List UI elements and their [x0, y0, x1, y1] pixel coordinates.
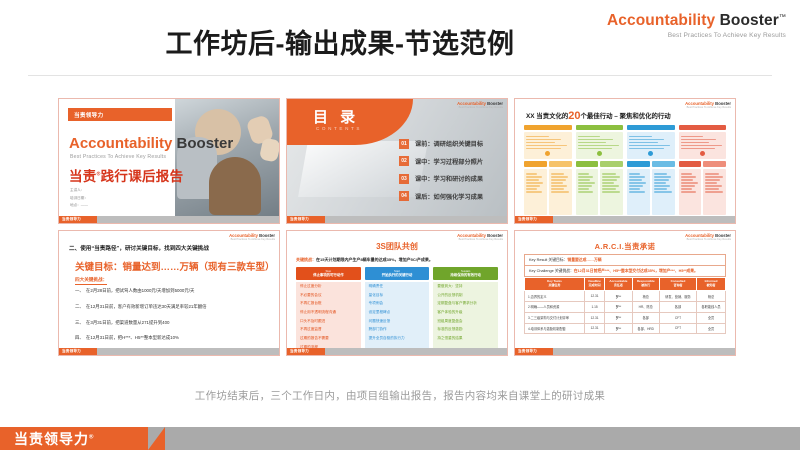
- arci-table-header-cell: Deadline完成时间: [584, 278, 604, 291]
- threes-list-item: 口头不及时跟进: [300, 320, 357, 324]
- arci-table-cell-consulted: 研发、营销、服务: [659, 291, 696, 302]
- actions-col-blue: [627, 125, 675, 215]
- actions-row-line: [681, 139, 716, 141]
- actions-column-body: [679, 132, 727, 159]
- thumbnail-cover[interactable]: 当责领导力 Accountability Booster Best Practi…: [58, 98, 280, 224]
- thumbnail-20-actions[interactable]: Accountability Booster Best Practices To…: [514, 98, 736, 224]
- key-goal-subheading: 四大关键挑战：: [75, 277, 107, 285]
- threes-list-item: 停止过度分析: [300, 285, 357, 289]
- arci-key-challenge: Key Challenge 关键挑战：在12月31日前把产***、H5**整本型…: [524, 265, 726, 277]
- actions-row-line: [629, 182, 646, 184]
- key-goal-item: 一、 在2月28日前，把试驾人数由1000元/天增加到5000元/天: [75, 288, 269, 293]
- actions-column-body: [576, 132, 624, 159]
- threes-column-header-cn: 停止事项的可行动作: [313, 273, 344, 277]
- threes-column-header-cn: 开始执行的关键行动: [382, 273, 413, 277]
- cover-badge: 当责领导力: [68, 108, 172, 121]
- arci-title: A.R.C.I.当责承诺: [515, 241, 735, 252]
- actions-subcolumn-header: [703, 161, 726, 167]
- arci-table-row: 4.培训体系与激励机制配套12.31罗**各部、HRDCFT全员: [525, 323, 726, 334]
- threes-column-header-en: Sustain: [461, 270, 470, 273]
- cover-meta-line: 培训日期：: [70, 195, 88, 203]
- arci-table-cell-responsible: 各部: [632, 312, 659, 323]
- threes-list-item: 不必要的会议: [300, 294, 357, 298]
- brand-tm: ™: [779, 14, 786, 21]
- key-goal-item-text: 在3月31日前，把渠道数量从271提升到400: [86, 320, 169, 325]
- actions-row-line: [629, 136, 652, 138]
- actions-row-line: [578, 148, 613, 150]
- thumb-footer-tab: 当责领导力: [287, 348, 325, 355]
- arci-table-header-row: Key Tasks关键任务Deadline完成时间Accountable责任者R…: [525, 278, 726, 291]
- threes-title: 3S团队共创: [287, 241, 507, 252]
- thumb-footer-tab: 当责领导力: [287, 216, 325, 223]
- threes-column-header-en: Start: [394, 270, 400, 273]
- threes-list-item: 不再过度监督: [300, 328, 357, 332]
- actions-row-line: [629, 191, 645, 193]
- thumb-brand: Accountability Booster Best Practices To…: [229, 234, 275, 242]
- actions-col-orange: [524, 125, 572, 215]
- actions-row-line: [526, 139, 561, 141]
- actions-row-line: [681, 145, 722, 147]
- actions-subcolumn-body: [549, 169, 572, 215]
- actions-col-green: [576, 125, 624, 215]
- contents-title-en: CONTENTS: [316, 126, 362, 131]
- contents-item-label: 课前：调研组织关键目标: [415, 139, 483, 148]
- key-goal-item-text: 在12月31日前，把H***、H5**整本型新达成10%: [86, 335, 179, 340]
- arci-header-cn: 完成时间: [586, 284, 603, 288]
- cover-photo: [175, 99, 279, 224]
- actions-badge-icon: [648, 151, 653, 156]
- actions-row-line: [551, 179, 566, 181]
- actions-row-line: [629, 142, 658, 144]
- actions-row-line: [654, 182, 666, 184]
- cover-title: Accountability Booster: [69, 135, 233, 152]
- actions-subcolumn-header: [549, 161, 572, 167]
- thumb-footer-tab: 当责领导力: [59, 348, 97, 355]
- actions-row-line: [526, 148, 561, 150]
- actions-row-line: [578, 142, 607, 144]
- actions-row-line: [629, 188, 640, 190]
- actions-row-line: [526, 179, 539, 181]
- threes-list-item: 定期复盘与客户需求分析: [437, 302, 494, 306]
- actions-subcolumn: [549, 161, 572, 215]
- arci-table-row: 2.明确——人员和资源1.15罗**HR、陈总各部各职能线人员: [525, 301, 726, 312]
- actions-row-line: [629, 148, 664, 150]
- arci-header-cn: 被知者: [698, 284, 724, 288]
- footer-logo-text: 当责领导力®: [14, 429, 94, 449]
- actions-subcolumn-header: [524, 161, 547, 167]
- contents-list: 01 课前：调研组织关键目标 02 课中：学习过程部分照片 03 课中：学习和研…: [399, 135, 505, 205]
- threes-column-body: 明确责任量化目标专项例会设定里程碑点问题快速反馈跨部门协作提升全员自驱的执行力: [365, 282, 430, 349]
- actions-row-line: [681, 191, 697, 193]
- actions-row-line: [681, 185, 695, 187]
- arci-table-cell-responsible: 杨总: [632, 291, 659, 302]
- actions-row-line: [654, 185, 670, 187]
- arci-table-cell-informed: 杨总: [697, 291, 726, 302]
- contents-item[interactable]: 01 课前：调研组织关键目标: [399, 135, 505, 153]
- arci-table-cell-accountable: 罗**: [605, 301, 632, 312]
- page-footer: 当责领导力®: [0, 426, 800, 450]
- contents-item-number: 03: [399, 174, 409, 184]
- cover-meta-line: 地点：——: [70, 202, 88, 210]
- contents-item-number: 02: [399, 156, 409, 166]
- actions-column-header: [524, 125, 572, 130]
- threes-list-item: 问题快速反馈: [369, 320, 426, 324]
- actions-row-line: [551, 173, 564, 175]
- actions-row-line: [629, 185, 643, 187]
- contents-item-label: 课中：学习和研讨的成果: [415, 174, 483, 183]
- threes-list-item: 提升全员自驱的执行力: [369, 337, 426, 341]
- actions-row-line: [681, 182, 698, 184]
- threes-column-header-en: Stop: [325, 270, 331, 273]
- actions-row-line: [602, 176, 620, 178]
- actions-row-line: [578, 179, 591, 181]
- footer-brand-tab: 当责领导力®: [0, 427, 148, 450]
- actions-row-line: [551, 185, 567, 187]
- actions-column-header: [679, 125, 727, 130]
- actions-row-line: [526, 176, 542, 178]
- actions-column-header: [576, 125, 624, 130]
- actions-row-line: [681, 142, 710, 144]
- actions-row-line: [526, 182, 543, 184]
- threes-list-item: 设定里程碑点: [369, 311, 426, 315]
- actions-row-line: [705, 191, 723, 193]
- contents-item-number: 01: [399, 139, 409, 149]
- actions-row-line: [578, 139, 613, 141]
- arci-table-header-cell: Accountable责任者: [605, 278, 632, 291]
- threes-column-header-cn: 持续保持的有效行动: [450, 273, 481, 277]
- actions-subcolumn: [703, 161, 726, 215]
- actions-row-line: [705, 173, 718, 175]
- actions-column-body: [627, 132, 675, 159]
- actions-row-line: [551, 176, 569, 178]
- actions-subcolumn-body: [679, 169, 702, 215]
- actions-subcolumn: [600, 161, 623, 215]
- threes-list-item: 明确责任: [369, 285, 426, 289]
- threes-list-item: 公开的反馈机制: [437, 294, 494, 298]
- actions-row-line: [629, 173, 640, 175]
- slide-canvas: Accountability Booster™ Best Practices T…: [0, 0, 800, 450]
- threes-column-header: Start开始执行的关键行动: [365, 267, 430, 280]
- thumbnail-key-goal[interactable]: Accountability Booster Best Practices To…: [58, 230, 280, 356]
- actions-row-line: [526, 145, 567, 147]
- contents-item-label: 课中：学习过程部分照片: [415, 157, 483, 166]
- arci-table: Key Tasks关键任务Deadline完成时间Accountable责任者R…: [524, 277, 726, 334]
- arci-table-header-cell: Consulted咨询者: [659, 278, 696, 291]
- actions-subcolumn: [627, 161, 650, 215]
- actions-row-line: [578, 136, 601, 138]
- actions-row-line: [602, 188, 616, 190]
- arci-table-cell-deadline: 12.31: [584, 312, 604, 323]
- key-goal-item-index: 二、: [75, 304, 86, 309]
- header-divider: [28, 75, 772, 76]
- actions-row-line: [551, 182, 563, 184]
- thumb-footer-tab: 当责领导力: [515, 348, 553, 355]
- actions-row-line: [705, 176, 723, 178]
- actions-row-line: [578, 182, 595, 184]
- arci-table-cell-accountable: 罗**: [605, 323, 632, 334]
- threes-list-item: 要做到大：坚持: [437, 285, 494, 289]
- actions-row-line: [578, 176, 594, 178]
- actions-subcolumn-body: [652, 169, 675, 215]
- actions-subcolumn-header: [600, 161, 623, 167]
- threes-column-header: Sustain持续保持的有效行动: [433, 267, 498, 280]
- arci-table-cell-task: 4.培训体系与激励机制配套: [525, 323, 585, 334]
- arci-table-cell-consulted: 各部: [659, 301, 696, 312]
- actions-row-line: [578, 185, 592, 187]
- thumb-footer-tab: 当责领导力: [59, 216, 97, 223]
- arci-header-cn: 被执行: [634, 284, 658, 288]
- threes-list-item: 跨部门协作: [369, 328, 426, 332]
- actions-row-line: [705, 185, 721, 187]
- actions-subcolumn-body: [703, 169, 726, 215]
- slide-thumbnail-grid: 当责领导力 Accountability Booster Best Practi…: [58, 98, 744, 356]
- actions-row-line: [602, 185, 618, 187]
- actions-row-line: [602, 191, 620, 193]
- key-goal-item-index: 一、: [75, 288, 86, 293]
- threes-list-item: 停止用不透明流程沟通: [300, 311, 357, 315]
- threes-list-item: 量化目标: [369, 294, 426, 298]
- actions-row-line: [578, 145, 619, 147]
- contents-item[interactable]: 02 课中：学习过程部分照片: [399, 153, 505, 171]
- threes-column-header: Stop停止事项的可行动作: [296, 267, 361, 280]
- threes-list-item: 专项例会: [369, 302, 426, 306]
- cover-title-accountability: Accountability: [69, 135, 172, 152]
- threes-list-item: 持之恒重的结果: [437, 337, 494, 341]
- actions-subcolumn: [576, 161, 599, 215]
- actions-subcolumn-body: [627, 169, 650, 215]
- arci-table-row: 1.边界的定义12.31罗**杨总研发、营销、服务杨总: [525, 291, 726, 302]
- thumbnail-arci[interactable]: Accountability Booster Best Practices To…: [514, 230, 736, 356]
- arci-table-cell-deadline: 12.31: [584, 323, 604, 334]
- key-goal-item-index: 四、: [75, 335, 86, 340]
- cover-meta-line: 主讲人：: [70, 187, 88, 195]
- contents-item-number: 04: [399, 191, 409, 201]
- thumbnail-3s[interactable]: Accountability Booster Best Practices To…: [286, 230, 508, 356]
- actions-row-line: [578, 191, 594, 193]
- arci-table-header-cell: Responsible被执行: [632, 278, 659, 291]
- arci-table-cell-informed: 全员: [697, 312, 726, 323]
- threes-list-item: 过期的报告不需要: [300, 337, 357, 341]
- actions-row-line: [681, 148, 716, 150]
- actions-row-line: [578, 188, 589, 190]
- actions-row-line: [654, 173, 667, 175]
- threes-list-item: 客户体验的升级: [437, 311, 494, 315]
- actions-subcolumn-header: [576, 161, 599, 167]
- thumb-brand: Accountability Booster Best Practices To…: [457, 102, 503, 110]
- actions-badge-icon: [545, 151, 550, 156]
- contents-item[interactable]: 04 课后：如何强化学习成果: [399, 188, 505, 206]
- actions-subcolumn-header: [652, 161, 675, 167]
- actions-row-line: [526, 142, 555, 144]
- actions-column-header: [627, 125, 675, 130]
- actions-row-line: [526, 173, 537, 175]
- actions-row-line: [602, 173, 615, 175]
- threes-list-item: 不再汇报台账: [300, 302, 357, 306]
- actions-column-body: [524, 132, 572, 159]
- actions-row-line: [654, 188, 668, 190]
- arci-table-cell-deadline: 1.15: [584, 301, 604, 312]
- actions-row-line: [578, 173, 589, 175]
- key-goal-item: 三、 在3月31日前，把渠道数量从271提升到400: [75, 320, 269, 325]
- actions-badge-icon: [700, 151, 705, 156]
- actions-title: XX 当责文化的20个最佳行动 – 聚焦和优化的行动: [526, 110, 671, 122]
- threes-column-body: 要做到大：坚持公开的反馈机制定期复盘与客户需求分析客户体验的升级班组周度复盘会标…: [433, 282, 498, 349]
- key-goal-heading: 二、使用“当责路径”，研讨关键目标，找到四大关键挑战: [69, 244, 209, 252]
- arci-table-cell-informed: 全员: [697, 323, 726, 334]
- arci-table-header-cell: Informed被知者: [697, 278, 726, 291]
- contents-item[interactable]: 03 课中：学习和研讨的成果: [399, 170, 505, 188]
- thumb-footer-tab: 当责领导力: [515, 216, 553, 223]
- actions-subcolumn-header: [679, 161, 702, 167]
- actions-subcolumn: [524, 161, 547, 215]
- actions-row-line: [602, 182, 614, 184]
- threes-columns: Stop停止事项的可行动作停止过度分析不必要的会议不再汇报台账停止用不透明流程沟…: [296, 267, 498, 356]
- arci-table-cell-task: 2.明确——人员和资源: [525, 301, 585, 312]
- actions-row-line: [705, 182, 717, 184]
- threes-col-stop: Stop停止事项的可行动作停止过度分析不必要的会议不再汇报台账停止用不透明流程沟…: [296, 267, 361, 356]
- actions-row-line: [705, 188, 719, 190]
- arci-table-cell-deadline: 12.31: [584, 291, 604, 302]
- cover-headline: 当责®践行课后报告: [69, 165, 183, 185]
- actions-row-line: [629, 145, 670, 147]
- arci-table-cell-accountable: 罗**: [605, 312, 632, 323]
- actions-row-line: [654, 179, 669, 181]
- actions-row-line: [551, 191, 569, 193]
- arci-table-cell-responsible: 各部、HRD: [632, 323, 659, 334]
- thumbnail-contents[interactable]: 目 录 CONTENTS Accountability Booster Best…: [286, 98, 508, 224]
- actions-row-line: [654, 176, 672, 178]
- cover-title-booster: Booster: [177, 135, 234, 152]
- arci-table-header-cell: Key Tasks关键任务: [525, 278, 585, 291]
- page-title: 工作坊后-输出成果-节选范例: [0, 22, 800, 61]
- arci-table-cell-responsible: HR、陈总: [632, 301, 659, 312]
- actions-row-line: [629, 176, 645, 178]
- actions-row-line: [681, 179, 694, 181]
- arci-header-cn: 关键任务: [526, 284, 583, 288]
- actions-row-line: [526, 136, 549, 138]
- actions-row-line: [526, 185, 540, 187]
- actions-subcolumn-body: [600, 169, 623, 215]
- key-goal-item-text: 在12月31日前，客户有效新增订单违达30天满足率较21年翻倍: [86, 304, 207, 309]
- actions-row-line: [629, 179, 642, 181]
- arci-table-cell-task: 3.二三级架构与交付计划评审: [525, 312, 585, 323]
- threes-col-sustain: Sustain持续保持的有效行动要做到大：坚持公开的反馈机制定期复盘与客户需求分…: [433, 267, 498, 356]
- arci-table-row: 3.二三级架构与交付计划评审12.31罗**各部CFT全员: [525, 312, 726, 323]
- arci-header-cn: 咨询者: [661, 284, 695, 288]
- threes-list-item: 标准的反馈激励: [437, 328, 494, 332]
- key-goal-item-text: 在2月28日前，把试驾人数由1000元/天增加到5000元/天: [86, 288, 194, 293]
- actions-row-line: [681, 188, 692, 190]
- cover-meta: 主讲人： 培训日期： 地点：——: [70, 187, 88, 210]
- threes-col-start: Start开始执行的关键行动明确责任量化目标专项例会设定里程碑点问题快速反馈跨部…: [365, 267, 430, 356]
- actions-row-line: [526, 188, 537, 190]
- arci-table-cell-consulted: CFT: [659, 323, 696, 334]
- thumb-brand: Accountability Booster Best Practices To…: [685, 102, 731, 110]
- arci-table-cell-task: 1.边界的定义: [525, 291, 585, 302]
- cover-subtitle: Best Practices To Achieve Key Results: [70, 154, 166, 160]
- actions-subcolumn-body: [576, 169, 599, 215]
- actions-row-line: [681, 173, 692, 175]
- contents-item-label: 课后：如何强化学习成果: [415, 192, 483, 201]
- caption-text: 工作坊结束后，三个工作日内，由项目组输出报告，报告内容均来自课堂上的研讨成果: [0, 388, 800, 403]
- actions-columns: [524, 125, 726, 215]
- actions-subcolumn: [679, 161, 702, 215]
- actions-row-line: [681, 176, 697, 178]
- threes-note: 关键挑战：在15天计划期限内产生产8辆车量的达成35%，增加产5C/产成果。: [296, 257, 498, 263]
- actions-row-line: [681, 136, 704, 138]
- key-goal-list: 一、 在2月28日前，把试驾人数由1000元/天增加到5000元/天 二、 在1…: [75, 288, 269, 351]
- threes-column-body: 停止过度分析不必要的会议不再汇报台账停止用不透明流程沟通口头不及时跟进不再过度监…: [296, 282, 361, 356]
- actions-row-line: [551, 188, 565, 190]
- actions-subcolumn-header: [627, 161, 650, 167]
- actions-row-line: [654, 191, 672, 193]
- actions-badge-icon: [597, 151, 602, 156]
- arci-table-cell-consulted: CFT: [659, 312, 696, 323]
- contents-title: 目 录: [313, 106, 359, 127]
- actions-row-line: [629, 139, 664, 141]
- threes-list-item: 班组周度复盘会: [437, 320, 494, 324]
- actions-row-line: [705, 179, 720, 181]
- actions-row-line: [526, 191, 542, 193]
- arci-header-cn: 责任者: [606, 284, 630, 288]
- arci-table-cell-accountable: 罗**: [605, 291, 632, 302]
- key-goal-item-index: 三、: [75, 320, 86, 325]
- actions-subcolumn-body: [524, 169, 547, 215]
- arci-table-cell-informed: 各职能线人员: [697, 301, 726, 312]
- key-goal-item: 二、 在12月31日前，客户有效新增订单违达30天满足率较21年翻倍: [75, 304, 269, 309]
- actions-subcolumn: [652, 161, 675, 215]
- actions-col-red: [679, 125, 727, 215]
- actions-row-line: [602, 179, 617, 181]
- key-goal-statement: 关键目标：销量达到……万辆（现有三款车型）: [75, 259, 275, 273]
- key-goal-item: 四、 在12月31日前，把H***、H5**整本型新达成10%: [75, 335, 269, 340]
